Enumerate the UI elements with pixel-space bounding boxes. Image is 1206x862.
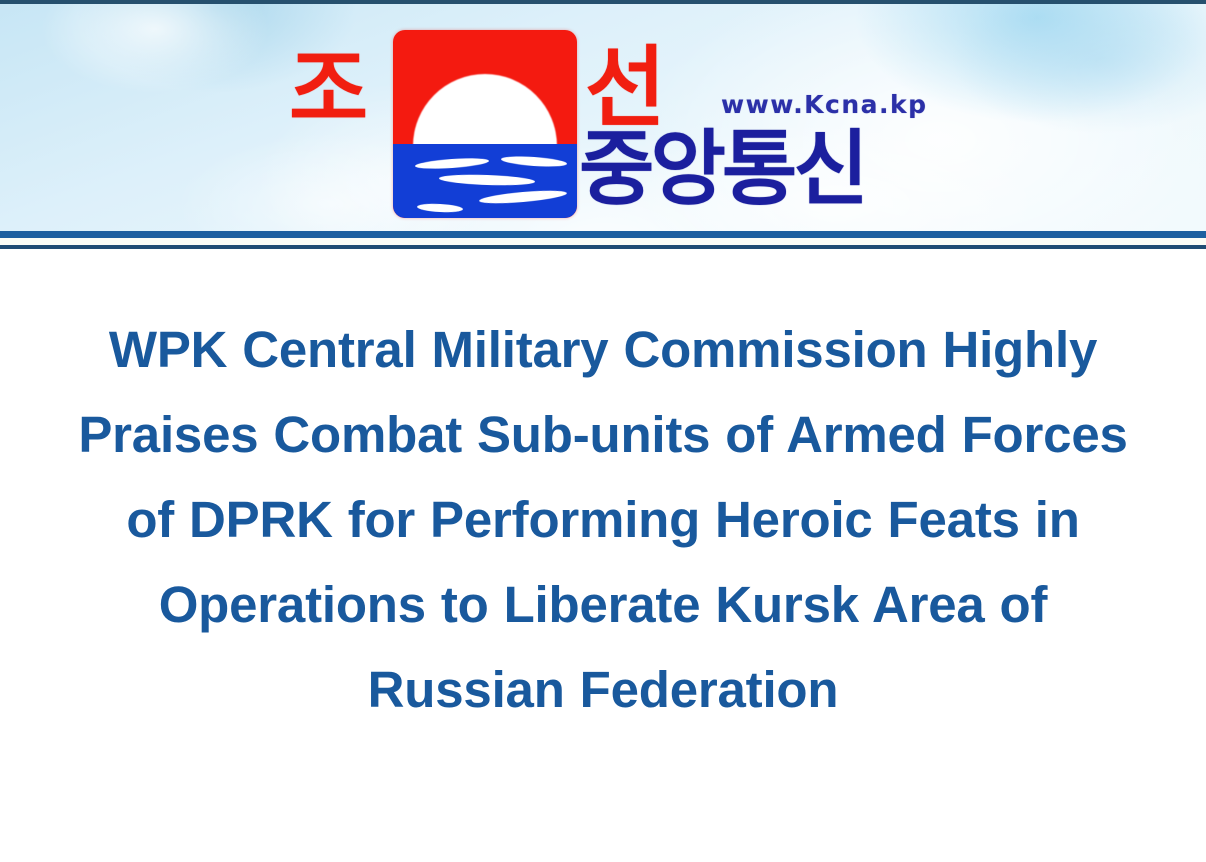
cloud-decoration-top-right	[950, 0, 1206, 134]
article-headline: WPK Central Military Commission Highly P…	[54, 307, 1152, 732]
article-content: WPK Central Military Commission Highly P…	[0, 249, 1206, 732]
korean-logotype-jo: 조선	[289, 42, 385, 138]
kcna-emblem-icon	[393, 30, 577, 218]
article-page: 조선 선 중앙통신 www.Kcna.kp WPK Central Milita…	[0, 0, 1206, 862]
site-url-text[interactable]: www.Kcna.kp	[721, 90, 928, 120]
cloud-decoration-left	[40, 0, 270, 94]
site-masthead: 조선 선 중앙통신 www.Kcna.kp	[0, 0, 1206, 231]
korean-logotype-jungangtongsin: 중앙통신	[579, 122, 865, 218]
kcna-logo[interactable]: 조선 선 중앙통신 www.Kcna.kp	[289, 18, 939, 223]
divider-rule-gap	[0, 238, 1206, 245]
divider-rule-primary	[0, 231, 1206, 238]
